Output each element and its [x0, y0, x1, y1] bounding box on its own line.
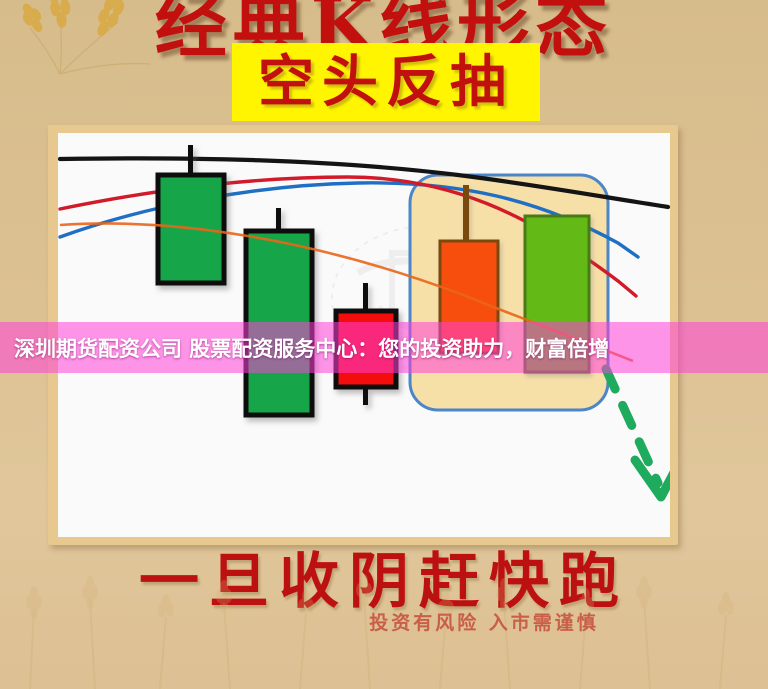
- bottom-slogan: 一旦收阴赶快跑: [0, 533, 768, 620]
- promo-overlay-text: 深圳期货配资公司 股票配资服务中心：您的投资助力，财富倍增: [0, 333, 609, 363]
- candle-2: [246, 208, 312, 415]
- pattern-name-banner: 空头反抽: [232, 43, 540, 121]
- pattern-name-label: 空头反抽: [258, 54, 514, 110]
- down-arrow-icon: [606, 369, 670, 497]
- promo-overlay-banner[interactable]: 深圳期货配资公司 股票配资服务中心：您的投资助力，财富倍增: [0, 322, 768, 373]
- risk-disclaimer: 投资有风险 入市需谨慎: [0, 608, 768, 635]
- poster-root: 经典K线形态 空头反抽: [0, 0, 768, 689]
- candle-1: [158, 145, 224, 283]
